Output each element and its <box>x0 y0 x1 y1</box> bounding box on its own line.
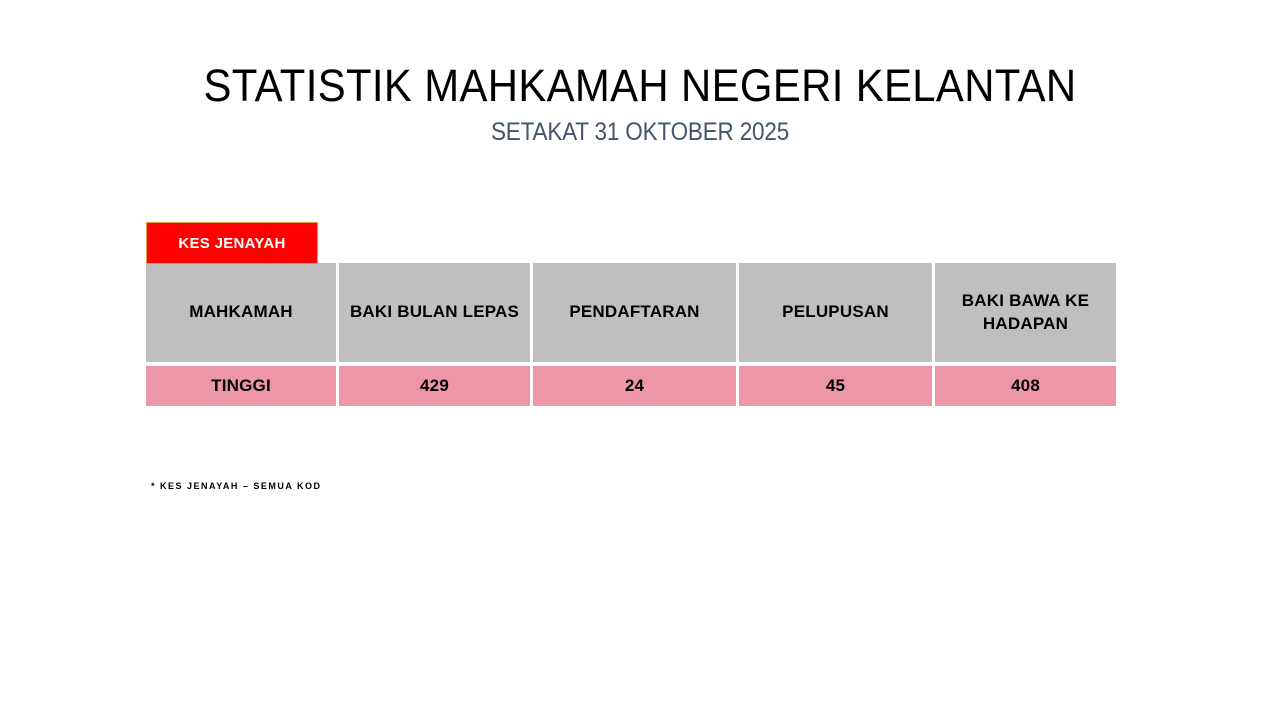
column-header-baki-bawa-ke-hadapan: BAKI BAWA KE HADAPAN <box>935 263 1116 366</box>
category-badge-kes-jenayah: KES JENAYAH <box>146 222 318 264</box>
column-header-pelupusan: PELUPUSAN <box>739 263 935 366</box>
table-header-row: MAHKAMAH BAKI BULAN LEPAS PENDAFTARAN PE… <box>146 263 1116 366</box>
footnote: * KES JENAYAH – SEMUA KOD <box>151 481 322 491</box>
page-subtitle: SETAKAT 31 OKTOBER 2025 <box>64 117 1216 147</box>
column-header-pendaftaran: PENDAFTARAN <box>533 263 739 366</box>
column-header-mahkamah: MAHKAMAH <box>146 263 339 366</box>
page-title: STATISTIK MAHKAMAH NEGERI KELANTAN <box>45 62 1235 111</box>
table-row: TINGGI 429 24 45 408 <box>146 366 1116 406</box>
cell-baki-bulan-lepas: 429 <box>339 366 533 406</box>
cell-mahkamah: TINGGI <box>146 366 339 406</box>
column-header-baki-bulan-lepas: BAKI BULAN LEPAS <box>339 263 533 366</box>
slide-canvas: STATISTIK MAHKAMAH NEGERI KELANTAN SETAK… <box>0 0 1280 720</box>
category-badge-label: KES JENAYAH <box>178 235 285 252</box>
cell-pelupusan: 45 <box>739 366 935 406</box>
title-block: STATISTIK MAHKAMAH NEGERI KELANTAN SETAK… <box>0 62 1280 147</box>
cell-baki-bawa-ke-hadapan: 408 <box>935 366 1116 406</box>
cell-pendaftaran: 24 <box>533 366 739 406</box>
statistics-table: MAHKAMAH BAKI BULAN LEPAS PENDAFTARAN PE… <box>146 263 1116 406</box>
